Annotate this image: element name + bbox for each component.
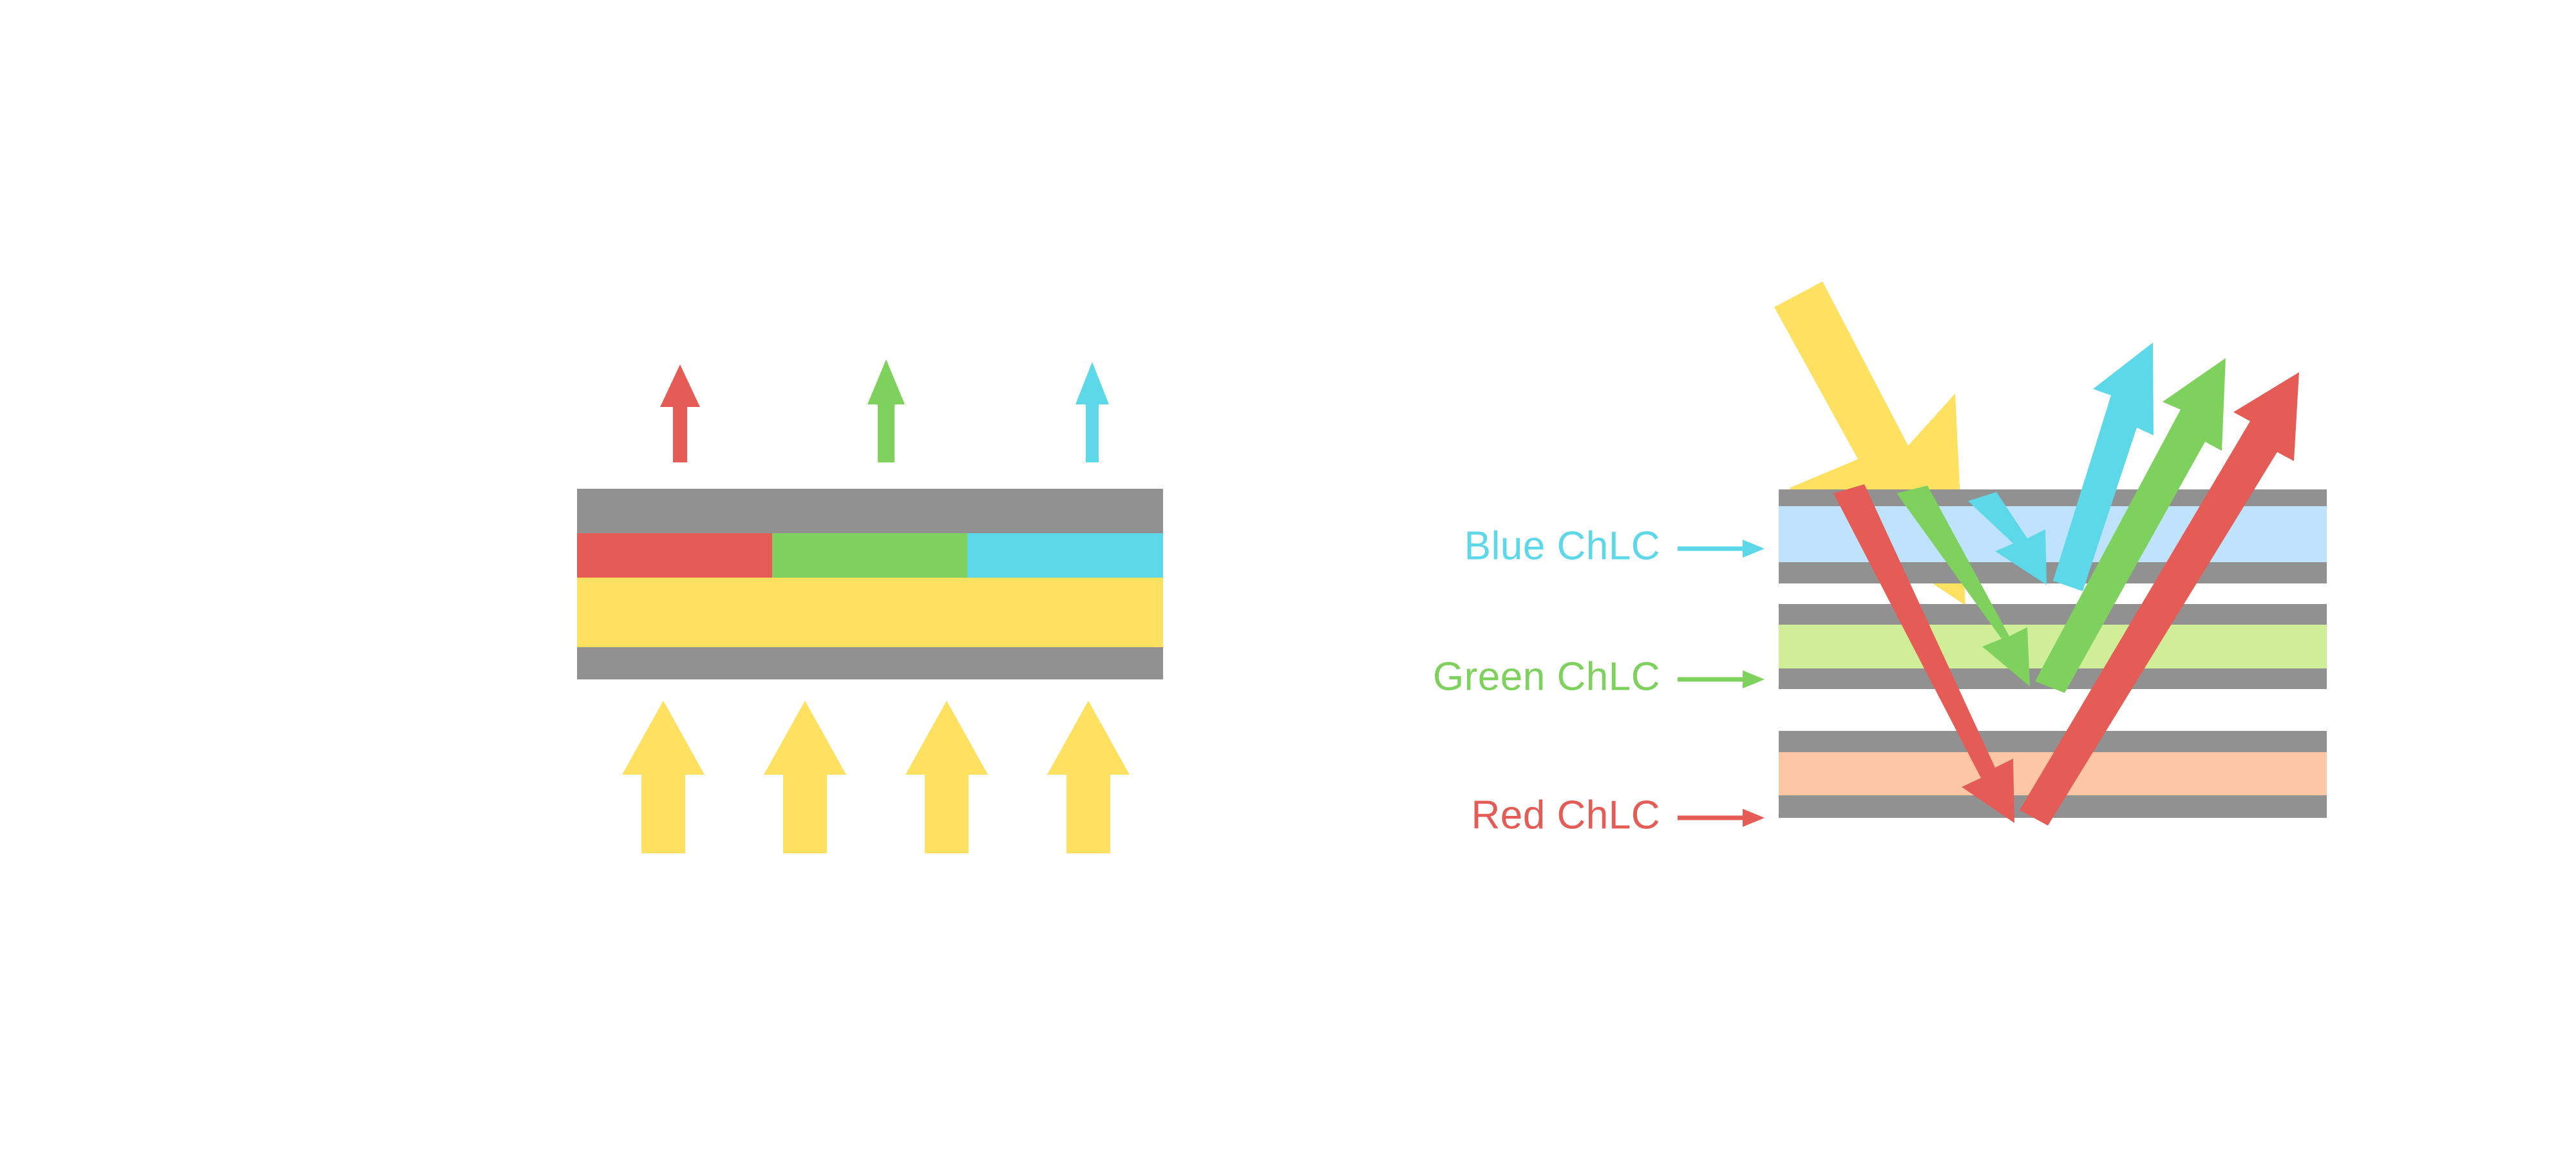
backlight-arrow-3: [905, 701, 988, 853]
backlight-arrows-group: [622, 701, 1130, 853]
emissive-stack-layers: [577, 489, 1163, 679]
green-cell-top-electrode: [1779, 604, 2327, 625]
red-subpixel-filter: [577, 533, 772, 578]
red-emitted-arrow: [660, 364, 700, 462]
backlight-layer: [577, 578, 1163, 647]
red-chlc-label-group: Red ChLC: [1472, 793, 1765, 837]
backlight-arrow-1: [622, 701, 705, 853]
red-chlc-label: Red ChLC: [1472, 793, 1660, 837]
backlight-arrow-4: [1047, 701, 1130, 853]
green-chlc-label: Green ChLC: [1433, 654, 1660, 699]
right-panel-chlc-stack: Blue ChLC Green ChLC Red ChLC: [1433, 281, 2327, 837]
diagram-svg: Blue ChLC Green ChLC Red ChLC: [0, 0, 2576, 1154]
blue-emitted-arrow: [1075, 362, 1109, 462]
red-cell-top-electrode: [1779, 731, 2327, 752]
green-label-arrow-icon: [1678, 670, 1765, 688]
blue-chlc-label: Blue ChLC: [1464, 524, 1660, 568]
backlight-arrow-2: [764, 701, 846, 853]
emitted-arrows-group: [660, 359, 1109, 462]
blue-chlc-label-group: Blue ChLC: [1464, 524, 1765, 568]
blue-cell-bottom-electrode: [1779, 562, 2327, 583]
bottom-electrode-layer: [577, 647, 1163, 679]
blue-label-arrow-icon: [1678, 540, 1765, 558]
diagram-canvas: Blue ChLC Green ChLC Red ChLC: [0, 0, 2576, 1154]
green-emitted-arrow: [867, 359, 905, 462]
green-subpixel-filter: [772, 533, 967, 578]
red-label-arrow-icon: [1678, 809, 1765, 827]
top-electrode-layer: [577, 489, 1163, 533]
chlc-labels-group: Blue ChLC Green ChLC Red ChLC: [1433, 524, 1765, 837]
green-chlc-label-group: Green ChLC: [1433, 654, 1765, 699]
blue-subpixel-filter: [967, 533, 1163, 578]
left-panel-emissive-stack: [577, 359, 1163, 853]
